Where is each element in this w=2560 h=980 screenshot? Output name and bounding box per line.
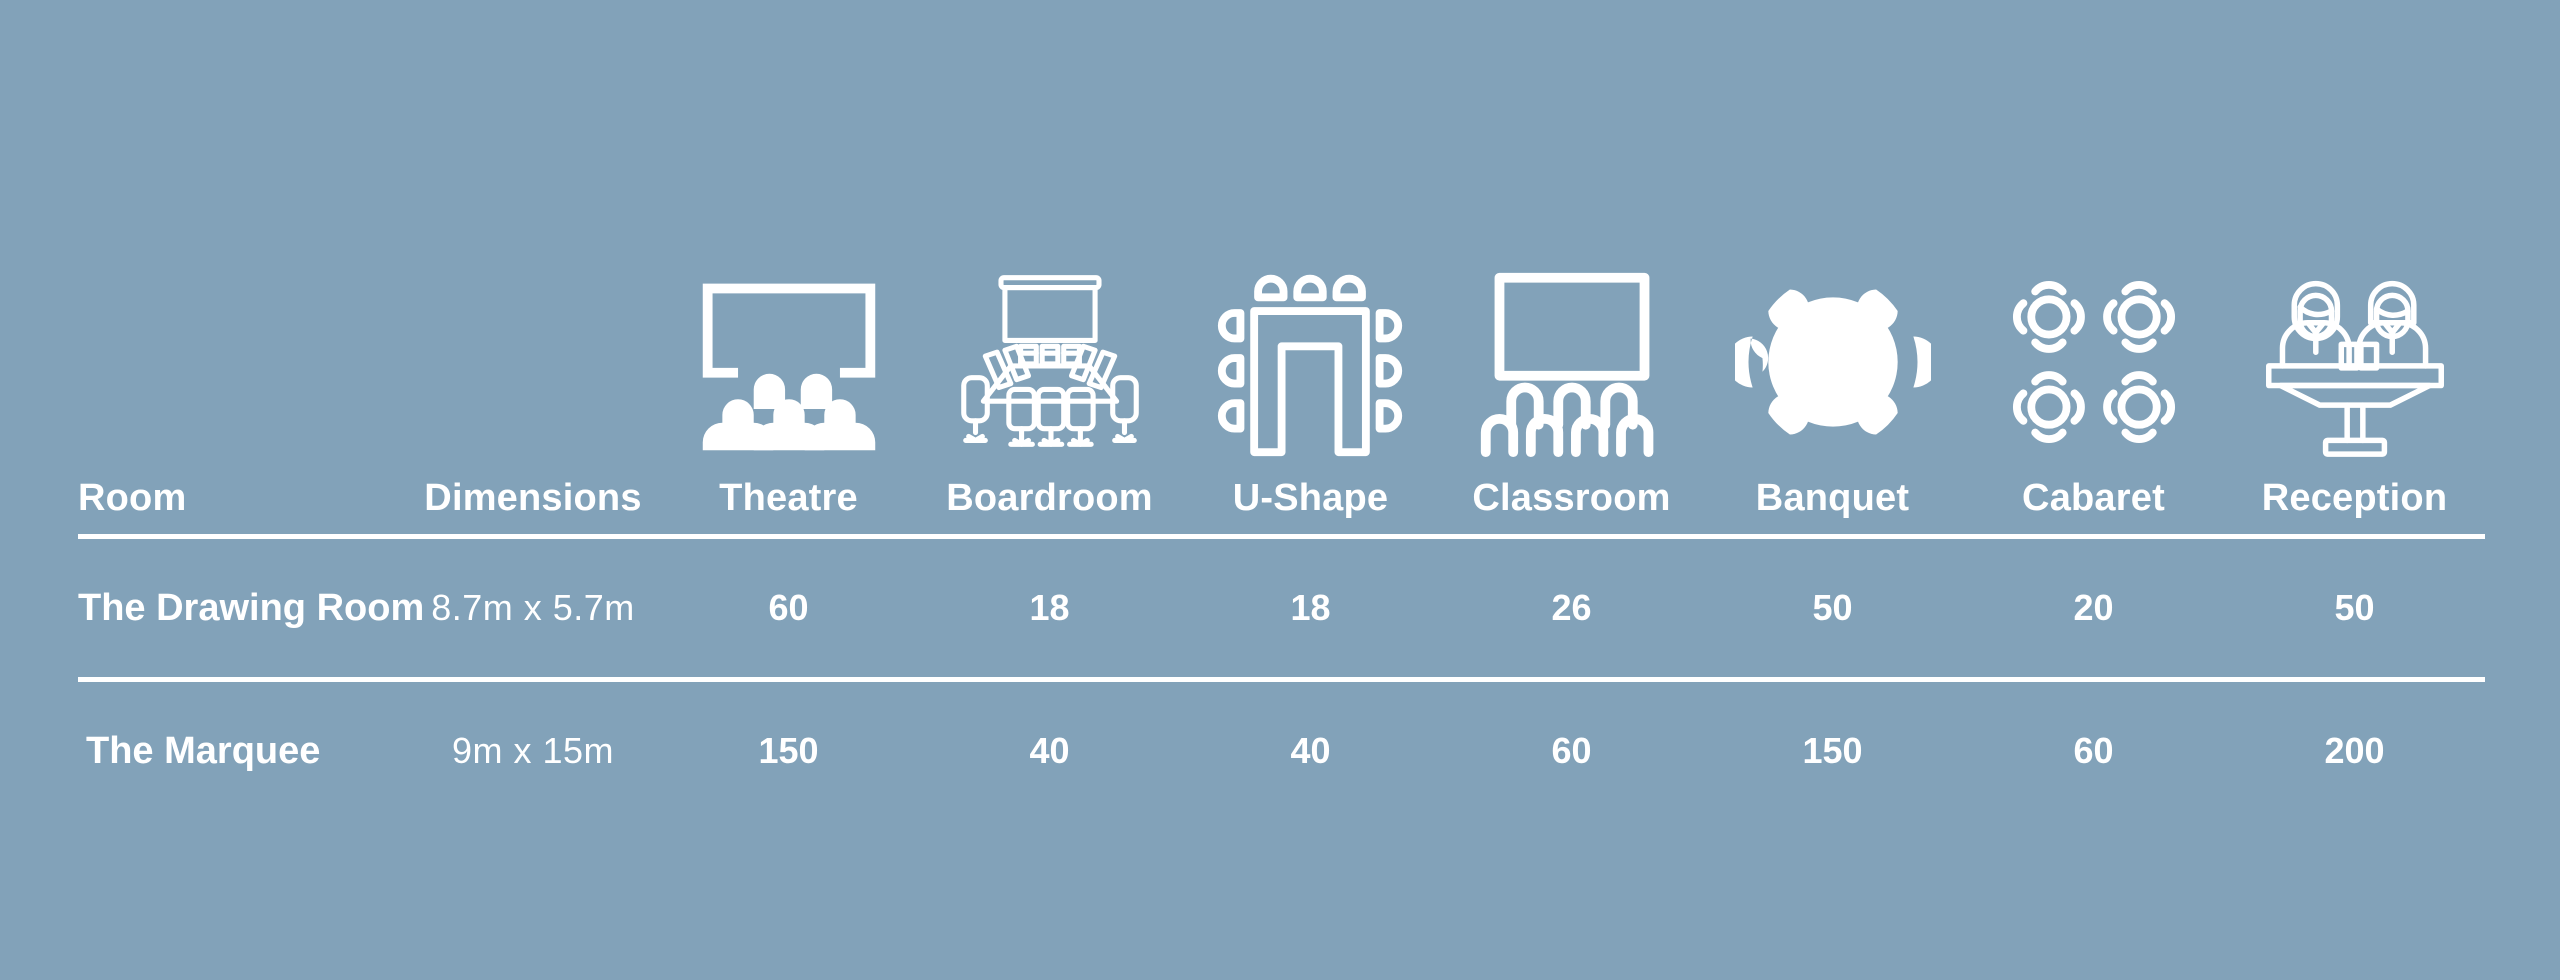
column-header-room: Room <box>78 462 408 534</box>
icon-cell-room <box>78 240 408 462</box>
column-header-dimensions: Dimensions <box>408 462 658 534</box>
column-header-banquet: Banquet <box>1702 462 1963 534</box>
icon-cell-ushape <box>1180 240 1441 462</box>
column-header-ushape: U-Shape <box>1180 462 1441 534</box>
cell-cabaret-capacity: 60 <box>1963 682 2224 820</box>
cell-reception-capacity: 50 <box>2224 539 2485 677</box>
table-header-row: Room Dimensions Theatre Boardroom U-Shap… <box>78 462 2485 534</box>
banquet-layout-icon <box>1735 262 1931 462</box>
boardroom-layout-icon <box>952 262 1148 462</box>
icon-cell-dimensions <box>408 240 658 462</box>
column-header-classroom: Classroom <box>1441 462 1702 534</box>
room-capacity-table: Room Dimensions Theatre Boardroom U-Shap… <box>78 240 2485 820</box>
theatre-layout-icon <box>691 262 887 462</box>
cell-boardroom-capacity: 18 <box>919 539 1180 677</box>
cell-classroom-capacity: 60 <box>1441 682 1702 820</box>
layout-icon-row <box>78 240 2485 462</box>
cell-theatre-capacity: 150 <box>658 682 919 820</box>
u-shape-layout-icon <box>1213 262 1409 462</box>
cell-boardroom-capacity: 40 <box>919 682 1180 820</box>
cell-banquet-capacity: 150 <box>1702 682 1963 820</box>
cell-reception-capacity: 200 <box>2224 682 2485 820</box>
cell-theatre-capacity: 60 <box>658 539 919 677</box>
cell-classroom-capacity: 26 <box>1441 539 1702 677</box>
room-capacity-chart: Room Dimensions Theatre Boardroom U-Shap… <box>78 0 2484 980</box>
icon-cell-classroom <box>1441 240 1702 462</box>
icon-cell-cabaret <box>1963 240 2224 462</box>
icon-cell-banquet <box>1702 240 1963 462</box>
cell-cabaret-capacity: 20 <box>1963 539 2224 677</box>
cell-banquet-capacity: 50 <box>1702 539 1963 677</box>
cell-ushape-capacity: 40 <box>1180 682 1441 820</box>
table-row: The Drawing Room 8.7m x 5.7m 60 18 18 26… <box>78 539 2485 677</box>
column-header-cabaret: Cabaret <box>1963 462 2224 534</box>
cell-ushape-capacity: 18 <box>1180 539 1441 677</box>
cell-room-name: The Marquee <box>78 682 408 820</box>
table-row: The Marquee 9m x 15m 150 40 40 60 150 60… <box>78 682 2485 820</box>
icon-cell-boardroom <box>919 240 1180 462</box>
classroom-layout-icon <box>1474 262 1670 462</box>
icon-cell-reception <box>2224 240 2485 462</box>
cell-dimensions: 8.7m x 5.7m <box>408 539 658 677</box>
cell-room-name: The Drawing Room <box>78 539 408 677</box>
column-header-theatre: Theatre <box>658 462 919 534</box>
column-header-boardroom: Boardroom <box>919 462 1180 534</box>
column-header-reception: Reception <box>2224 462 2485 534</box>
cabaret-layout-icon <box>1996 262 2192 462</box>
icon-cell-theatre <box>658 240 919 462</box>
cell-dimensions: 9m x 15m <box>408 682 658 820</box>
reception-layout-icon <box>2257 262 2453 462</box>
